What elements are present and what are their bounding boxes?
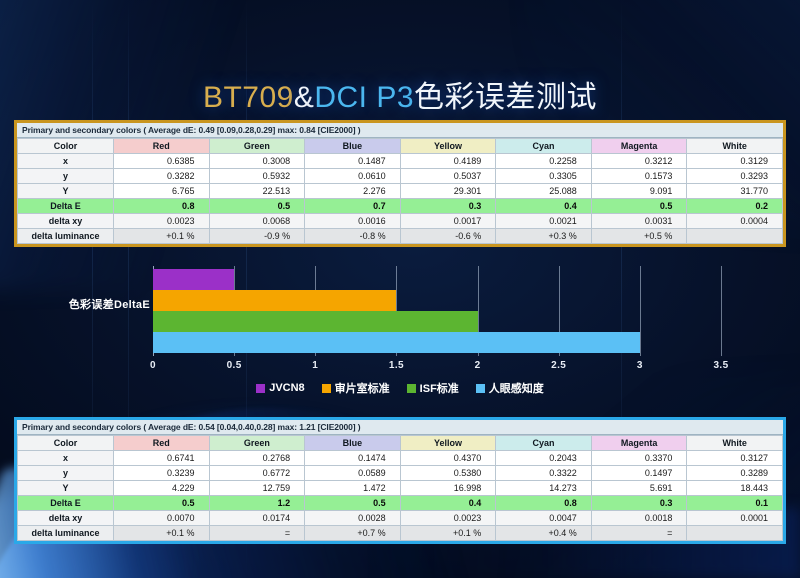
cell: 0.7 xyxy=(305,199,401,214)
col-header-cyan: Cyan xyxy=(496,436,592,451)
table-header-row: Color Red Green Blue Yellow Cyan Magenta… xyxy=(18,139,783,154)
table-row-delta-e: Delta E 0.8 0.5 0.7 0.3 0.4 0.5 0.2 xyxy=(18,199,783,214)
chart-bar xyxy=(153,332,640,353)
cell: 9.091 xyxy=(591,184,687,199)
chart-x-tick-label: 0 xyxy=(150,360,156,371)
col-header-blue: Blue xyxy=(305,436,401,451)
cell: 0.3239 xyxy=(114,466,210,481)
col-header-magenta: Magenta xyxy=(591,139,687,154)
cell: 0.8 xyxy=(496,496,592,511)
cell: 16.998 xyxy=(400,481,496,496)
title-part-dcip3: DCI P3 xyxy=(314,81,414,114)
legend-swatch-icon xyxy=(476,384,485,393)
cell: 0.3 xyxy=(400,199,496,214)
cell xyxy=(687,229,783,244)
cell: 2.276 xyxy=(305,184,401,199)
chart-gridline xyxy=(721,266,722,356)
legend-item[interactable]: ISF标准 xyxy=(407,380,459,396)
row-label: x xyxy=(18,451,114,466)
cell xyxy=(687,526,783,541)
cell: 0.0017 xyxy=(400,214,496,229)
table-row: Y 6.765 22.513 2.276 29.301 25.088 9.091… xyxy=(18,184,783,199)
cell: +0.5 % xyxy=(591,229,687,244)
col-header-red: Red xyxy=(114,139,210,154)
cell: +0.4 % xyxy=(496,526,592,541)
legend-swatch-icon xyxy=(407,384,416,393)
chart-category-label: 色彩误差DeltaE xyxy=(55,296,150,312)
measurement-table: Color Red Green Blue Yellow Cyan Magenta… xyxy=(17,138,783,244)
cell: +0.1 % xyxy=(114,229,210,244)
row-label: delta xy xyxy=(18,214,114,229)
legend-label: 人眼感知度 xyxy=(489,380,544,396)
cell: 0.0018 xyxy=(591,511,687,526)
row-label: y xyxy=(18,169,114,184)
table-caption: Primary and secondary colors ( Average d… xyxy=(17,123,783,138)
cell: 0.0001 xyxy=(687,511,783,526)
cell: 0.0174 xyxy=(209,511,305,526)
chart-legend: JVCN8审片室标准ISF标准人眼感知度 xyxy=(0,380,800,396)
cell: 0.4189 xyxy=(400,154,496,169)
cell: = xyxy=(591,526,687,541)
row-label: Y xyxy=(18,481,114,496)
cell: 0.0023 xyxy=(114,214,210,229)
row-label: Delta E xyxy=(18,496,114,511)
cell: 0.0047 xyxy=(496,511,592,526)
cell: -0.8 % xyxy=(305,229,401,244)
cell: 0.3305 xyxy=(496,169,592,184)
title-part-ampersand: & xyxy=(294,81,315,114)
chart-gridline xyxy=(640,266,641,356)
title-part-bt709: BT709 xyxy=(203,81,294,114)
cell: 0.0023 xyxy=(400,511,496,526)
chart-bar xyxy=(153,269,234,290)
cell: +0.3 % xyxy=(496,229,592,244)
cell: 31.770 xyxy=(687,184,783,199)
cell: 0.0070 xyxy=(114,511,210,526)
col-header-white: White xyxy=(687,436,783,451)
cell: +0.1 % xyxy=(400,526,496,541)
chart-plot-area xyxy=(153,266,721,356)
table-header-row: Color Red Green Blue Yellow Cyan Magenta… xyxy=(18,436,783,451)
cell: 0.2 xyxy=(687,199,783,214)
cell: 0.0028 xyxy=(305,511,401,526)
table-caption: Primary and secondary colors ( Average d… xyxy=(17,420,783,435)
cell: 12.759 xyxy=(209,481,305,496)
cell: 0.1497 xyxy=(591,466,687,481)
cell: 0.0021 xyxy=(496,214,592,229)
cell: 0.6772 xyxy=(209,466,305,481)
cell: 0.0068 xyxy=(209,214,305,229)
table-row: x 0.6741 0.2768 0.1474 0.4370 0.2043 0.3… xyxy=(18,451,783,466)
table-row: delta xy 0.0023 0.0068 0.0016 0.0017 0.0… xyxy=(18,214,783,229)
cell: 0.5 xyxy=(591,199,687,214)
row-label: delta xy xyxy=(18,511,114,526)
table-row: Y 4.229 12.759 1.472 16.998 14.273 5.691… xyxy=(18,481,783,496)
col-header-red: Red xyxy=(114,436,210,451)
col-header-color: Color xyxy=(18,139,114,154)
cell: 29.301 xyxy=(400,184,496,199)
cell: 18.443 xyxy=(687,481,783,496)
cell: 6.765 xyxy=(114,184,210,199)
delta-e-bar-chart: 00.511.522.533.5 JVCN8审片室标准ISF标准人眼感知度 xyxy=(0,252,800,412)
cell: 0.3282 xyxy=(114,169,210,184)
cell: 0.3289 xyxy=(687,466,783,481)
row-label: Y xyxy=(18,184,114,199)
chart-x-tick-label: 2 xyxy=(475,360,481,371)
cell: 0.0031 xyxy=(591,214,687,229)
chart-x-tick-label: 1 xyxy=(312,360,318,371)
cell: -0.6 % xyxy=(400,229,496,244)
cell: 0.4370 xyxy=(400,451,496,466)
cell: +0.7 % xyxy=(305,526,401,541)
cell: = xyxy=(209,526,305,541)
legend-swatch-icon xyxy=(256,384,265,393)
cell: 0.1487 xyxy=(305,154,401,169)
table-row-delta-e: Delta E 0.5 1.2 0.5 0.4 0.8 0.3 0.1 xyxy=(18,496,783,511)
cell: 0.1 xyxy=(687,496,783,511)
row-label: delta luminance xyxy=(18,526,114,541)
cell: 25.088 xyxy=(496,184,592,199)
chart-x-tick-label: 0.5 xyxy=(227,360,242,371)
row-label: delta luminance xyxy=(18,229,114,244)
legend-item[interactable]: 审片室标准 xyxy=(322,380,390,396)
cell: 0.5380 xyxy=(400,466,496,481)
legend-label: ISF标准 xyxy=(420,380,459,396)
col-header-yellow: Yellow xyxy=(400,436,496,451)
cell: 0.5 xyxy=(114,496,210,511)
col-header-cyan: Cyan xyxy=(496,139,592,154)
col-header-color: Color xyxy=(18,436,114,451)
cell: 0.3322 xyxy=(496,466,592,481)
table-row: y 0.3282 0.5932 0.0610 0.5037 0.3305 0.1… xyxy=(18,169,783,184)
col-header-magenta: Magenta xyxy=(591,436,687,451)
page-title: BT709&DCI P3色彩误差测试 xyxy=(0,72,800,116)
legend-label: 审片室标准 xyxy=(335,380,390,396)
table-row: delta xy 0.0070 0.0174 0.0028 0.0023 0.0… xyxy=(18,511,783,526)
cell: 0.3212 xyxy=(591,154,687,169)
cell: 22.513 xyxy=(209,184,305,199)
cell: 14.273 xyxy=(496,481,592,496)
legend-swatch-icon xyxy=(322,384,331,393)
cell: 0.3127 xyxy=(687,451,783,466)
color-accuracy-table-dcip3: Primary and secondary colors ( Average d… xyxy=(14,417,786,544)
chart-bar xyxy=(153,290,396,311)
color-accuracy-table-bt709: Primary and secondary colors ( Average d… xyxy=(14,120,786,247)
table-row: delta luminance +0.1 % -0.9 % -0.8 % -0.… xyxy=(18,229,783,244)
cell: 0.3370 xyxy=(591,451,687,466)
cell: 0.0004 xyxy=(687,214,783,229)
row-label: Delta E xyxy=(18,199,114,214)
chart-x-tick-label: 2.5 xyxy=(551,360,566,371)
cell: 0.2768 xyxy=(209,451,305,466)
cell: 1.472 xyxy=(305,481,401,496)
cell: 0.4 xyxy=(400,496,496,511)
cell: 4.229 xyxy=(114,481,210,496)
legend-item[interactable]: JVCN8 xyxy=(256,382,304,394)
row-label: x xyxy=(18,154,114,169)
cell: 0.0610 xyxy=(305,169,401,184)
title-part-chinese: 色彩误差测试 xyxy=(414,81,597,114)
cell: 0.3293 xyxy=(687,169,783,184)
cell: 5.691 xyxy=(591,481,687,496)
cell: 0.1573 xyxy=(591,169,687,184)
col-header-white: White xyxy=(687,139,783,154)
chart-x-tick-label: 3.5 xyxy=(713,360,728,371)
cell: 0.0016 xyxy=(305,214,401,229)
table-row: y 0.3239 0.6772 0.0589 0.5380 0.3322 0.1… xyxy=(18,466,783,481)
measurement-table: Color Red Green Blue Yellow Cyan Magenta… xyxy=(17,435,783,541)
cell: 0.8 xyxy=(114,199,210,214)
cell: 0.0589 xyxy=(305,466,401,481)
chart-bar xyxy=(153,311,478,332)
cell: 0.6385 xyxy=(114,154,210,169)
cell: 1.2 xyxy=(209,496,305,511)
legend-label: JVCN8 xyxy=(269,382,304,394)
cell: 0.4 xyxy=(496,199,592,214)
cell: 0.6741 xyxy=(114,451,210,466)
cell: 0.1474 xyxy=(305,451,401,466)
cell: 0.5037 xyxy=(400,169,496,184)
chart-x-tick-label: 3 xyxy=(637,360,643,371)
col-header-yellow: Yellow xyxy=(400,139,496,154)
cell: 0.3 xyxy=(591,496,687,511)
cell: 0.3129 xyxy=(687,154,783,169)
col-header-green: Green xyxy=(209,436,305,451)
table-row: delta luminance +0.1 % = +0.7 % +0.1 % +… xyxy=(18,526,783,541)
cell: 0.5 xyxy=(305,496,401,511)
col-header-blue: Blue xyxy=(305,139,401,154)
cell: 0.2258 xyxy=(496,154,592,169)
row-label: y xyxy=(18,466,114,481)
col-header-green: Green xyxy=(209,139,305,154)
legend-item[interactable]: 人眼感知度 xyxy=(476,380,544,396)
table-row: x 0.6385 0.3008 0.1487 0.4189 0.2258 0.3… xyxy=(18,154,783,169)
cell: 0.2043 xyxy=(496,451,592,466)
cell: 0.5 xyxy=(209,199,305,214)
cell: 0.3008 xyxy=(209,154,305,169)
cell: +0.1 % xyxy=(114,526,210,541)
chart-x-tick-label: 1.5 xyxy=(389,360,404,371)
cell: -0.9 % xyxy=(209,229,305,244)
cell: 0.5932 xyxy=(209,169,305,184)
